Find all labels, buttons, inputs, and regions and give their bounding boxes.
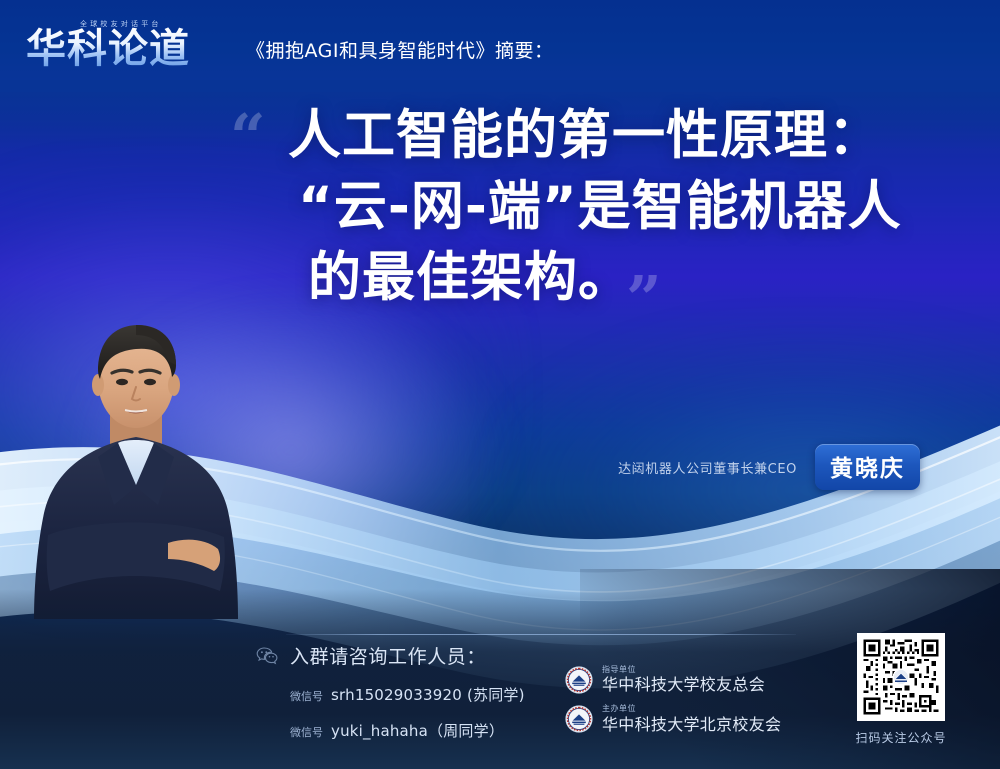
- contact-title: 入群请咨询工作人员：: [290, 642, 486, 669]
- organizer-name: 华中科技大学北京校友会: [602, 717, 781, 734]
- page-title: 《拥抱AGI和具身智能时代》摘要：: [246, 36, 554, 63]
- wechat-icon: [256, 647, 278, 665]
- contact-section: 入群请咨询工作人员： 微信号 srh15029033920 (苏同学) 微信号 …: [256, 642, 556, 741]
- qr-caption: 扫码关注公众号: [842, 729, 960, 746]
- speaker-name-badge: 黄晓庆: [815, 444, 920, 490]
- organizer-name: 华中科技大学校友总会: [602, 677, 765, 694]
- organizer-text: 指导单位 华中科技大学校友总会: [602, 666, 765, 694]
- wechat-label: 微信号: [290, 724, 323, 740]
- wechat-id[interactable]: yuki_hahaha（周同学）: [331, 720, 504, 741]
- wechat-id[interactable]: srh15029033920 (苏同学): [331, 684, 525, 705]
- organizer-kicker: 指导单位: [602, 666, 765, 674]
- organizer-kicker: 主办单位: [602, 705, 781, 713]
- quote-close-mark: ”: [626, 268, 662, 330]
- header: 全球校友对话平台 华科论道 《拥抱AGI和具身智能时代》摘要：: [0, 0, 1000, 92]
- contact-header: 入群请咨询工作人员：: [256, 642, 556, 669]
- brand-wordmark: 华科论道: [26, 26, 190, 72]
- quote-line-1: 人工智能的第一性原理：: [288, 100, 970, 171]
- qr-code[interactable]: [857, 633, 945, 721]
- speaker-attribution: 达闼机器人公司董事长兼CEO 黄晓庆: [618, 444, 920, 490]
- wechat-label: 微信号: [290, 688, 323, 704]
- organizer-row: 主办单位 华中科技大学北京校友会: [565, 705, 781, 733]
- quote-open-mark: “: [230, 106, 266, 168]
- quote-block: “ 人工智能的第一性原理： “云-网-端”是智能机器人 的最佳架构。 ”: [230, 100, 970, 313]
- quote-lines: 人工智能的第一性原理： “云-网-端”是智能机器人 的最佳架构。: [230, 100, 970, 313]
- quote-line-2: “云-网-端”是智能机器人: [298, 171, 970, 242]
- organizer-row: 指导单位 华中科技大学校友总会: [565, 666, 781, 694]
- footer-divider: [286, 634, 796, 635]
- brand-logo[interactable]: 全球校友对话平台 华科论道: [26, 18, 222, 74]
- qr-section: 扫码关注公众号: [842, 633, 960, 746]
- poster-canvas: 全球校友对话平台 华科论道 《拥抱AGI和具身智能时代》摘要： “ 人工智能的第…: [0, 0, 1000, 769]
- university-seal-icon: [565, 666, 593, 694]
- university-seal-icon: [565, 705, 593, 733]
- speaker-portrait: [18, 309, 254, 619]
- organizers-section: 指导单位 华中科技大学校友总会 主办单位 华中科技大学北京校友会: [565, 666, 781, 744]
- wechat-row: 微信号 srh15029033920 (苏同学): [256, 684, 556, 705]
- speaker-role: 达闼机器人公司董事长兼CEO: [618, 458, 797, 477]
- wechat-row: 微信号 yuki_hahaha（周同学）: [256, 720, 556, 741]
- organizer-text: 主办单位 华中科技大学北京校友会: [602, 705, 781, 733]
